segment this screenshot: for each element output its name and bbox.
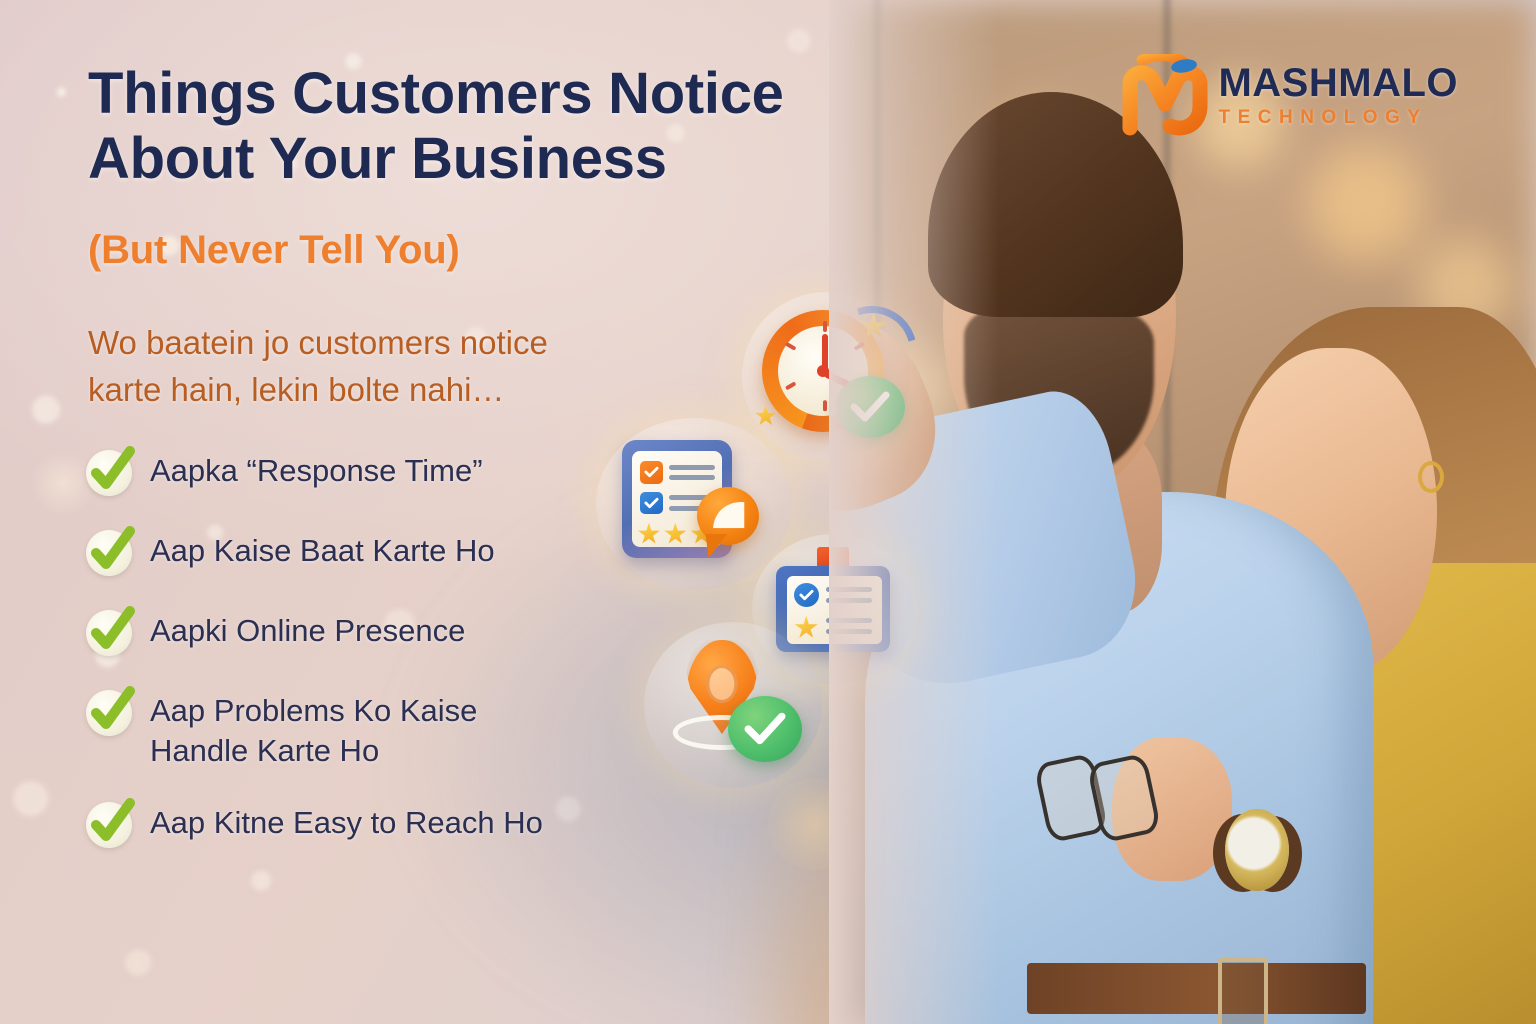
list-item-label: Aap Problems Ko Kaise Handle Karte Ho xyxy=(150,688,520,770)
check-glyph xyxy=(84,446,136,498)
list-item-label: Aapki Online Presence xyxy=(150,608,465,651)
check-glyph xyxy=(644,466,659,478)
page-title: Things Customers Notice About Your Busin… xyxy=(88,62,908,192)
check-glyph xyxy=(644,497,659,509)
list-item-label: Aapka “Response Time” xyxy=(150,448,483,491)
heart-glyph xyxy=(711,500,744,528)
list-item: Aapka “Response Time” xyxy=(84,448,644,498)
check-glyph xyxy=(744,712,786,746)
clock-tick xyxy=(823,400,827,411)
list-item: Aap Kitne Easy to Reach Ho xyxy=(84,800,644,850)
check-circle-icon xyxy=(84,798,136,850)
page-subtitle: (But Never Tell You) xyxy=(88,228,460,273)
text-line xyxy=(669,465,715,470)
list-item-label: Aap Kitne Easy to Reach Ho xyxy=(150,800,543,843)
check-glyph xyxy=(84,686,136,738)
check-glyph xyxy=(84,798,136,850)
list-item: Aapki Online Presence xyxy=(84,608,644,658)
list-item: Aap Problems Ko Kaise Handle Karte Ho xyxy=(84,688,644,770)
map-pin-location-icon xyxy=(676,640,768,752)
list-item-label: Aap Kaise Baat Karte Ho xyxy=(150,528,495,571)
page-tagline: Wo baatein jo customers notice karte hai… xyxy=(88,320,628,414)
couple-photo xyxy=(829,0,1536,1024)
green-check-badge xyxy=(728,696,802,762)
poster-canvas: MASHMALO TECHNOLOGY Things Customers Not… xyxy=(0,0,1536,1024)
check-glyph xyxy=(84,526,136,578)
text-line xyxy=(669,475,715,480)
heart-speech-bubble-icon xyxy=(697,487,759,545)
check-glyph xyxy=(84,606,136,658)
check-circle-icon xyxy=(84,606,136,658)
clock-tick xyxy=(823,321,827,332)
check-circle-icon xyxy=(84,686,136,738)
heading-line-2: About Your Business xyxy=(88,127,908,192)
check-circle-icon xyxy=(84,446,136,498)
check-glyph xyxy=(799,589,814,601)
check-circle-icon xyxy=(84,526,136,578)
heading-line-1: Things Customers Notice xyxy=(88,62,908,127)
list-item: Aap Kaise Baat Karte Ho xyxy=(84,528,644,578)
checklist: Aapka “Response Time” Aap Kaise Baat Kar… xyxy=(84,448,644,880)
photo-left-fade xyxy=(829,0,1536,1024)
